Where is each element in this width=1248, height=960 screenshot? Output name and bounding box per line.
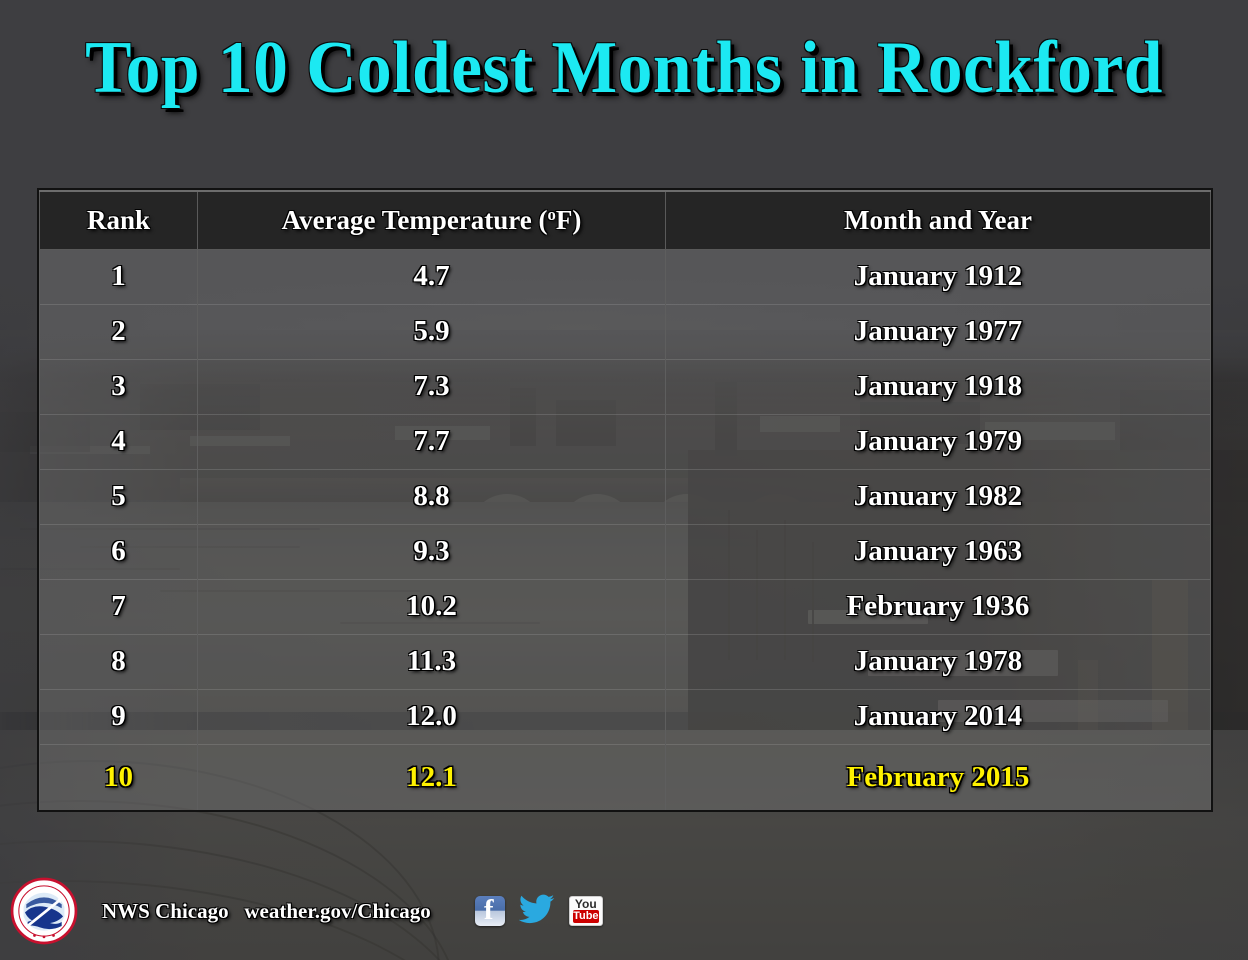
table-row: 1012.1February 2015: [40, 744, 1211, 810]
cell-rank: 7: [40, 579, 198, 634]
cell-temp: 5.9: [198, 304, 666, 359]
table-row: 37.3January 1918: [40, 359, 1211, 414]
footer-office-text: NWS Chicago weather.gov/Chicago: [102, 899, 431, 924]
cell-temp: 8.8: [198, 469, 666, 524]
twitter-icon[interactable]: [519, 894, 555, 929]
cell-temp: 7.7: [198, 414, 666, 469]
facebook-icon[interactable]: [475, 896, 505, 926]
cell-rank: 10: [40, 744, 198, 810]
youtube-you-label: You: [570, 897, 602, 911]
table-row: 58.8January 1982: [40, 469, 1211, 524]
table-row: 25.9January 1977: [40, 304, 1211, 359]
cell-temp: 7.3: [198, 359, 666, 414]
cell-rank: 2: [40, 304, 198, 359]
column-header-temperature-post: F): [556, 205, 581, 235]
cell-temp: 11.3: [198, 634, 666, 689]
cell-rank: 4: [40, 414, 198, 469]
footer: NWS Chicago weather.gov/Chicago You Tube: [0, 876, 1248, 946]
table-header-row: Rank Average Temperature (oF) Month and …: [40, 191, 1211, 249]
cell-temp: 12.1: [198, 744, 666, 810]
social-links: You Tube: [475, 894, 603, 929]
degree-icon: o: [548, 205, 556, 224]
cell-month: January 1979: [666, 414, 1211, 469]
column-header-temperature: Average Temperature (oF): [198, 191, 666, 249]
table-row: 811.3January 1978: [40, 634, 1211, 689]
table-body: 14.7January 191225.9January 197737.3Janu…: [40, 249, 1211, 810]
cell-temp: 10.2: [198, 579, 666, 634]
cell-month: January 1963: [666, 524, 1211, 579]
table-row: 710.2February 1936: [40, 579, 1211, 634]
youtube-icon[interactable]: You Tube: [569, 896, 603, 926]
cell-temp: 12.0: [198, 689, 666, 744]
ranking-table-container: Rank Average Temperature (oF) Month and …: [37, 188, 1213, 812]
table-row: 69.3January 1963: [40, 524, 1211, 579]
column-header-month-year: Month and Year: [666, 191, 1211, 249]
cell-month: January 1918: [666, 359, 1211, 414]
cell-rank: 9: [40, 689, 198, 744]
cell-month: January 1978: [666, 634, 1211, 689]
table-row: 47.7January 1979: [40, 414, 1211, 469]
cell-month: February 1936: [666, 579, 1211, 634]
cell-rank: 3: [40, 359, 198, 414]
cell-rank: 8: [40, 634, 198, 689]
cell-rank: 6: [40, 524, 198, 579]
youtube-tube-label: Tube: [573, 910, 599, 923]
cell-month: January 1977: [666, 304, 1211, 359]
column-header-rank: Rank: [40, 191, 198, 249]
table-row: 14.7January 1912: [40, 249, 1211, 304]
page-title: Top 10 Coldest Months in Rockford: [37, 26, 1210, 111]
cell-rank: 5: [40, 469, 198, 524]
cell-temp: 4.7: [198, 249, 666, 304]
cell-month: January 1912: [666, 249, 1211, 304]
cell-month: January 1982: [666, 469, 1211, 524]
cell-temp: 9.3: [198, 524, 666, 579]
nws-logo-icon: [10, 877, 78, 945]
ranking-table: Rank Average Temperature (oF) Month and …: [39, 190, 1211, 810]
table-row: 912.0January 2014: [40, 689, 1211, 744]
cell-month: February 2015: [666, 744, 1211, 810]
cell-month: January 2014: [666, 689, 1211, 744]
cell-rank: 1: [40, 249, 198, 304]
column-header-temperature-pre: Average Temperature (: [282, 205, 548, 235]
